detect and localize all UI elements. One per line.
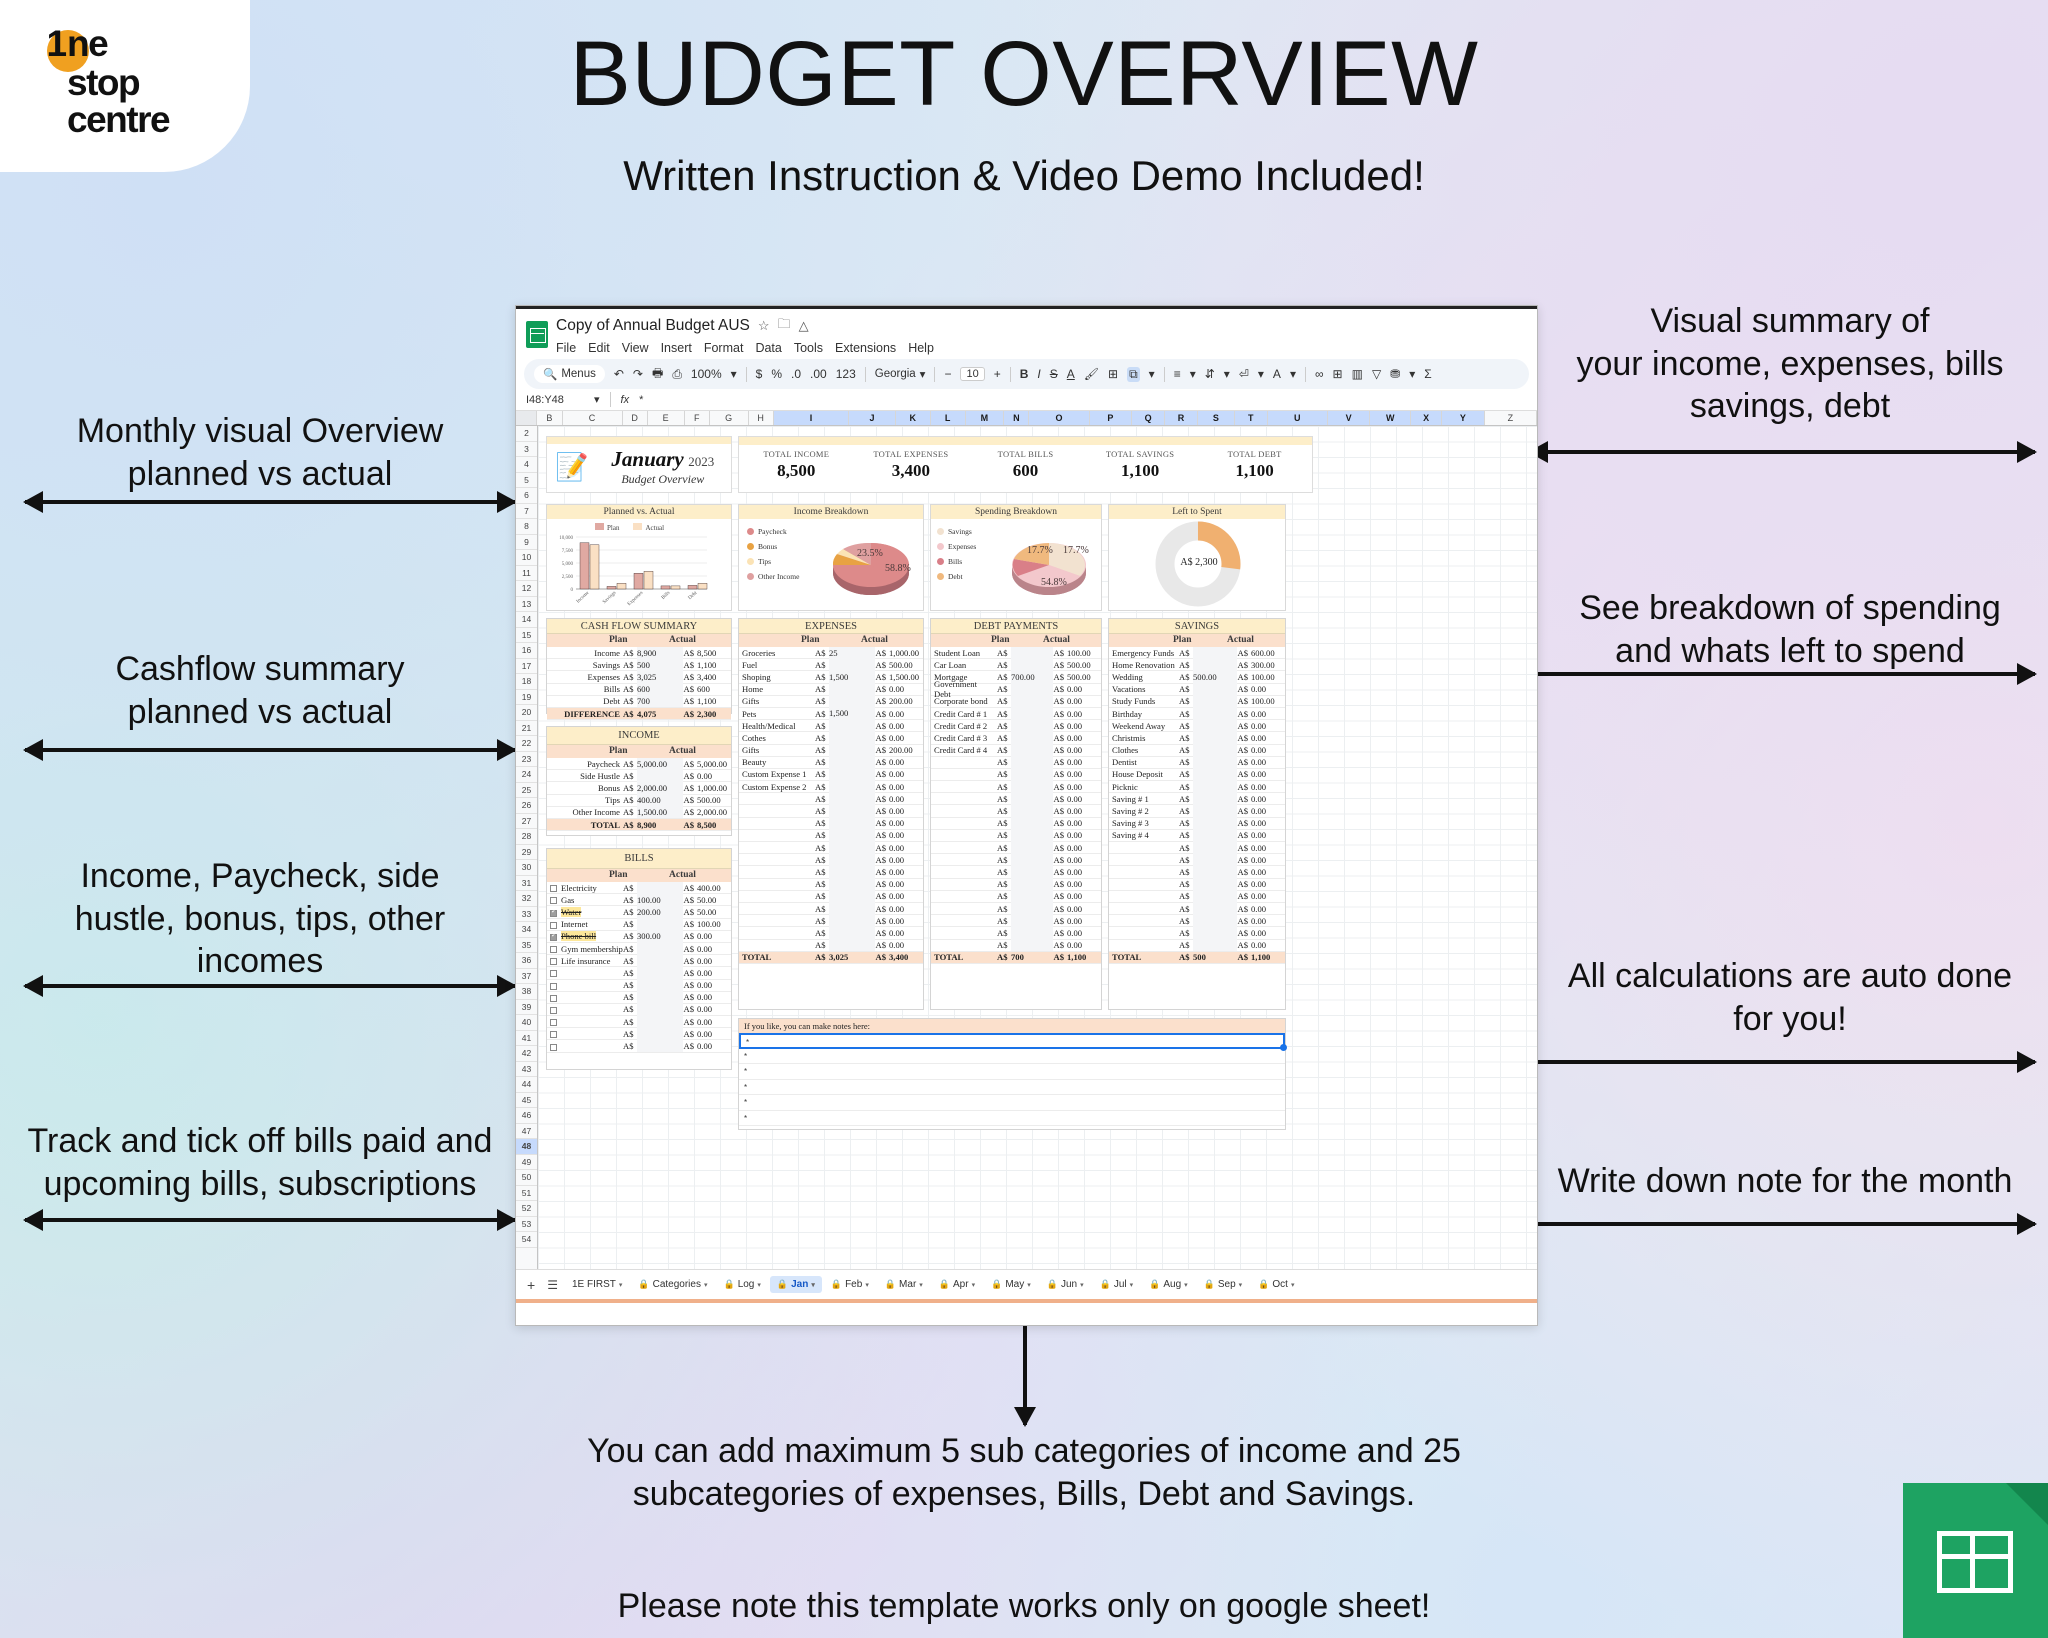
actual-value[interactable]: 0.00 — [889, 806, 923, 816]
chevron-down-icon[interactable]: ▾ — [757, 1281, 761, 1289]
row-header-36[interactable]: 36 — [516, 953, 537, 969]
borders-icon[interactable]: ⊞ — [1108, 367, 1118, 381]
table-row[interactable]: HomeA$A$0.00 — [739, 684, 923, 696]
table-row[interactable]: A$A$0.00 — [547, 1016, 731, 1028]
bill-checkbox[interactable] — [550, 885, 557, 892]
row-label[interactable] — [547, 1041, 623, 1051]
actual-value[interactable]: 0.00 — [889, 843, 923, 853]
actual-value[interactable]: 0.00 — [889, 769, 923, 779]
bill-checkbox[interactable] — [550, 897, 557, 904]
row-header-37[interactable]: 37 — [516, 969, 537, 985]
menu-bar[interactable]: File Edit View Insert Format Data Tools … — [556, 341, 934, 355]
plan-value[interactable] — [829, 939, 875, 951]
increase-decimal-icon[interactable]: .00 — [810, 367, 827, 381]
row-header-27[interactable]: 27 — [516, 814, 537, 830]
actual-value[interactable]: 0.00 — [1067, 867, 1101, 877]
table-row[interactable]: Home RenovationA$A$300.00 — [1109, 659, 1285, 671]
actual-value[interactable]: 0.00 — [889, 940, 923, 950]
table-row[interactable]: Credit Card # 1A$A$0.00 — [931, 708, 1101, 720]
plan-value[interactable] — [1011, 768, 1053, 780]
actual-value[interactable]: 200.00 — [889, 745, 923, 755]
zoom-level[interactable]: 100% — [691, 367, 722, 381]
column-header-W[interactable]: W — [1370, 411, 1411, 425]
bill-checkbox[interactable] — [550, 1044, 557, 1051]
actual-value[interactable]: 0.00 — [889, 855, 923, 865]
table-row[interactable]: A$A$0.00 — [739, 903, 923, 915]
table-row[interactable]: A$A$0.00 — [739, 842, 923, 854]
move-folder-icon[interactable]: 🗀 — [778, 315, 791, 337]
table-row[interactable]: A$A$0.00 — [547, 1028, 731, 1040]
actual-value[interactable]: 500.00 — [697, 795, 731, 805]
row-header-51[interactable]: 51 — [516, 1186, 537, 1202]
table-row[interactable]: A$A$0.00 — [739, 891, 923, 903]
column-header-Q[interactable]: Q — [1132, 411, 1165, 425]
sheet-tab-bar[interactable]: + ☰ 1E FIRST▾🔒Categories▾🔒Log▾🔒Jan▾🔒Feb▾… — [516, 1269, 1537, 1299]
table-row[interactable]: A$A$0.00 — [1109, 854, 1285, 866]
plan-value[interactable]: 700.00 — [1011, 671, 1053, 683]
more-formats-icon[interactable]: 123 — [836, 367, 856, 381]
plan-value[interactable] — [1193, 647, 1237, 659]
table-row[interactable]: Study FundsA$A$100.00 — [1109, 696, 1285, 708]
plan-value[interactable] — [1011, 817, 1053, 829]
actual-value[interactable]: 0.00 — [1067, 928, 1101, 938]
plan-value[interactable] — [1011, 842, 1053, 854]
table-row[interactable]: A$A$0.00 — [1109, 940, 1285, 952]
actual-value[interactable]: 0.00 — [1251, 916, 1285, 926]
table-row[interactable]: Credit Card # 2A$A$0.00 — [931, 720, 1101, 732]
row-header-3[interactable]: 3 — [516, 442, 537, 458]
actual-value[interactable]: 0.00 — [697, 956, 731, 966]
chevron-down-icon[interactable]: ▾ — [1291, 1281, 1295, 1289]
row-header-40[interactable]: 40 — [516, 1015, 537, 1031]
plan-value[interactable]: 500.00 — [1193, 671, 1237, 683]
row-header-11[interactable]: 11 — [516, 566, 537, 582]
actual-value[interactable]: 0.00 — [1067, 830, 1101, 840]
chart-left-to-spent[interactable]: Left to Spent A$ 2,300 — [1108, 504, 1286, 611]
table-row[interactable]: A$A$0.00 — [1109, 915, 1285, 927]
sheet-tab-sep[interactable]: 🔒Sep▾ — [1197, 1276, 1250, 1293]
sheet-tab-apr[interactable]: 🔒Apr▾ — [932, 1276, 982, 1293]
table-row[interactable]: SavingsA$500A$1,100 — [547, 659, 731, 671]
actual-value[interactable]: 100.00 — [697, 919, 731, 929]
table-row[interactable]: PetsA$1,500A$0.00 — [739, 708, 923, 720]
column-header-H[interactable]: H — [749, 411, 774, 425]
table-row[interactable]: A$A$0.00 — [931, 879, 1101, 891]
table-row[interactable]: PaycheckA$5,000.00A$5,000.00 — [547, 758, 731, 770]
actual-value[interactable]: 100.00 — [1251, 696, 1285, 706]
column-header-M[interactable]: M — [966, 411, 1005, 425]
plan-value[interactable] — [1011, 915, 1053, 927]
plan-value[interactable] — [1193, 744, 1237, 756]
column-header-P[interactable]: P — [1090, 411, 1133, 425]
actual-value[interactable]: 0.00 — [1067, 916, 1101, 926]
actual-value[interactable]: 50.00 — [697, 907, 731, 917]
note-line[interactable]: * — [739, 1111, 1285, 1127]
table-row[interactable]: GroceriesA$25A$1,000.00 — [739, 647, 923, 659]
actual-value[interactable]: 0.00 — [697, 980, 731, 990]
chevron-down-icon[interactable]: ▾ — [865, 1281, 869, 1289]
column-header-Z[interactable]: Z — [1485, 411, 1537, 425]
table-row[interactable]: Student LoanA$A$100.00 — [931, 647, 1101, 659]
plan-value[interactable] — [1011, 829, 1053, 841]
table-row[interactable]: GiftsA$A$200.00 — [739, 745, 923, 757]
row-header-6[interactable]: 6 — [516, 488, 537, 504]
bill-checkbox[interactable] — [550, 946, 557, 953]
actual-value[interactable]: 0.00 — [889, 721, 923, 731]
actual-value[interactable]: 1,100 — [697, 696, 731, 706]
actual-value[interactable]: 200.00 — [889, 696, 923, 706]
column-header-O[interactable]: O — [1029, 411, 1089, 425]
table-row[interactable]: Phone billA$300.00A$0.00 — [547, 931, 731, 943]
table-row[interactable]: A$A$0.00 — [739, 818, 923, 830]
table-row[interactable]: BirthdayA$A$0.00 — [1109, 708, 1285, 720]
table-row[interactable]: A$A$0.00 — [931, 940, 1101, 952]
actual-value[interactable]: 0.00 — [697, 968, 731, 978]
sheet-tab-feb[interactable]: 🔒Feb▾ — [824, 1276, 876, 1293]
actual-value[interactable]: 0.00 — [889, 928, 923, 938]
row-header-10[interactable]: 10 — [516, 550, 537, 566]
table-row[interactable]: Saving # 2A$A$0.00 — [1109, 805, 1285, 817]
actual-value[interactable]: 0.00 — [1251, 940, 1285, 950]
plan-value[interactable] — [637, 1016, 683, 1028]
actual-value[interactable]: 0.00 — [889, 916, 923, 926]
actual-value[interactable]: 0.00 — [889, 782, 923, 792]
actual-value[interactable]: 0.00 — [697, 944, 731, 954]
actual-value[interactable]: 0.00 — [1067, 904, 1101, 914]
row-label[interactable]: Phone bill — [547, 931, 623, 941]
table-row[interactable]: Car LoanA$A$500.00 — [931, 659, 1101, 671]
formula-input[interactable]: * — [639, 394, 643, 406]
paint-format-icon[interactable]: ⎙ — [672, 367, 682, 382]
all-sheets-icon[interactable]: ☰ — [542, 1278, 563, 1292]
menu-data[interactable]: Data — [755, 341, 781, 355]
plan-value[interactable] — [829, 744, 875, 756]
plan-value[interactable]: 500 — [637, 659, 683, 671]
row-header-26[interactable]: 26 — [516, 798, 537, 814]
actual-value[interactable]: 0.00 — [889, 684, 923, 694]
currency-icon[interactable]: $ — [756, 367, 763, 381]
row-label[interactable]: Electricity — [547, 883, 623, 893]
actual-value[interactable]: 0.00 — [1251, 709, 1285, 719]
zoom-chevron-down-icon[interactable]: ▾ — [731, 367, 737, 381]
horizontal-align-icon[interactable]: ≡ — [1174, 367, 1181, 381]
sheet-tab-jan[interactable]: 🔒Jan▾ — [770, 1276, 822, 1293]
column-header-G[interactable]: G — [710, 411, 749, 425]
table-row[interactable]: Saving # 4A$A$0.00 — [1109, 830, 1285, 842]
plan-value[interactable] — [637, 1003, 683, 1015]
actual-value[interactable]: 0.00 — [1251, 867, 1285, 877]
actual-value[interactable]: 0.00 — [1067, 818, 1101, 828]
table-row[interactable]: Saving # 3A$A$0.00 — [1109, 818, 1285, 830]
column-header-X[interactable]: X — [1411, 411, 1442, 425]
actual-value[interactable]: 0.00 — [1251, 769, 1285, 779]
table-row[interactable]: CothesA$A$0.00 — [739, 732, 923, 744]
font-size-input[interactable]: 10 — [960, 367, 984, 381]
chart-planned-vs-actual[interactable]: Planned vs. Actual Plan Actual 10,000 7,… — [546, 504, 732, 611]
row-header-42[interactable]: 42 — [516, 1046, 537, 1062]
row-header-49[interactable]: 49 — [516, 1155, 537, 1171]
row-header-14[interactable]: 14 — [516, 612, 537, 628]
table-row[interactable]: Credit Card # 3A$A$0.00 — [931, 732, 1101, 744]
column-header-V[interactable]: V — [1328, 411, 1371, 425]
table-row[interactable]: BeautyA$A$0.00 — [739, 757, 923, 769]
sheet-tab-mar[interactable]: 🔒Mar▾ — [878, 1276, 930, 1293]
star-icon[interactable]: ☆ — [758, 318, 770, 334]
table-row[interactable]: ChristmisA$A$0.00 — [1109, 732, 1285, 744]
plan-value[interactable] — [1193, 659, 1237, 671]
column-header-R[interactable]: R — [1165, 411, 1198, 425]
table-row[interactable]: BillsA$600A$600 — [547, 684, 731, 696]
row-header-31[interactable]: 31 — [516, 876, 537, 892]
actual-value[interactable]: 0.00 — [697, 992, 731, 1002]
chart-spending-breakdown[interactable]: Spending Breakdown Savings Expenses Bill… — [930, 504, 1102, 611]
row-header-12[interactable]: 12 — [516, 581, 537, 597]
name-box[interactable]: I48:Y48 — [526, 394, 584, 406]
filter-views-icon[interactable]: ⛃ — [1390, 367, 1400, 381]
plan-value[interactable] — [1011, 902, 1053, 914]
plan-value[interactable]: 300.00 — [637, 930, 683, 942]
plan-value[interactable] — [637, 1028, 683, 1040]
actual-value[interactable]: 400.00 — [697, 883, 731, 893]
plan-value[interactable] — [637, 770, 683, 782]
table-row[interactable]: A$A$0.00 — [739, 854, 923, 866]
table-row[interactable]: Health/MedicalA$A$0.00 — [739, 720, 923, 732]
row-label[interactable] — [547, 1029, 623, 1039]
actual-value[interactable]: 1,000.00 — [697, 783, 731, 793]
merge-cells-icon[interactable]: ⧉ — [1127, 367, 1140, 382]
plan-value[interactable] — [829, 659, 875, 671]
table-row[interactable]: Custom Expense 2A$A$0.00 — [739, 781, 923, 793]
plan-value[interactable]: 3,025 — [637, 671, 683, 683]
undo-icon[interactable]: ↶ — [614, 367, 624, 381]
redo-icon[interactable]: ↷ — [633, 367, 643, 381]
row-header-21[interactable]: 21 — [516, 721, 537, 737]
plan-value[interactable] — [1011, 927, 1053, 939]
sheet-tab-categories[interactable]: 🔒Categories▾ — [631, 1276, 714, 1293]
increase-font-size-icon[interactable]: + — [994, 367, 1001, 381]
sheet-tab-aug[interactable]: 🔒Aug▾ — [1142, 1276, 1195, 1293]
row-header-44[interactable]: 44 — [516, 1077, 537, 1093]
table-row[interactable]: DentistA$A$0.00 — [1109, 757, 1285, 769]
row-label[interactable]: Water — [547, 907, 623, 917]
actual-value[interactable]: 0.00 — [1067, 843, 1101, 853]
actual-value[interactable]: 600 — [697, 684, 731, 694]
print-icon[interactable]: 🖶 — [652, 364, 663, 385]
table-row[interactable]: ShopingA$1,500A$1,500.00 — [739, 671, 923, 683]
plan-value[interactable] — [1193, 695, 1237, 707]
plan-value[interactable] — [1011, 939, 1053, 951]
halign-chevron-down-icon[interactable]: ▾ — [1190, 367, 1196, 381]
table-row[interactable]: BonusA$2,000.00A$1,000.00 — [547, 782, 731, 794]
actual-value[interactable]: 0.00 — [1251, 818, 1285, 828]
row-header-46[interactable]: 46 — [516, 1108, 537, 1124]
insert-link-icon[interactable]: ∞ — [1315, 367, 1324, 381]
menu-help[interactable]: Help — [908, 341, 934, 355]
actual-value[interactable]: 0.00 — [1067, 769, 1101, 779]
plan-value[interactable] — [829, 793, 875, 805]
row-header-15[interactable]: 15 — [516, 628, 537, 644]
select-all-corner[interactable] — [516, 411, 537, 425]
actual-value[interactable]: 600.00 — [1251, 648, 1285, 658]
row-header-4[interactable]: 4 — [516, 457, 537, 473]
filter-icon[interactable]: ▽ — [1372, 367, 1381, 381]
plan-value[interactable]: 1,500 — [829, 671, 875, 683]
note-line[interactable]: * — [739, 1080, 1285, 1096]
table-row[interactable]: PicknicA$A$0.00 — [1109, 781, 1285, 793]
row-header-32[interactable]: 32 — [516, 891, 537, 907]
column-header-U[interactable]: U — [1268, 411, 1328, 425]
note-line[interactable]: * — [739, 1049, 1285, 1065]
plan-value[interactable] — [637, 967, 683, 979]
table-row[interactable]: A$A$0.00 — [931, 903, 1101, 915]
italic-icon[interactable]: I — [1037, 367, 1040, 381]
menus-search-button[interactable]: 🔍 Menus — [534, 365, 605, 383]
table-row[interactable]: A$A$0.00 — [931, 769, 1101, 781]
menu-view[interactable]: View — [622, 341, 649, 355]
plan-value[interactable] — [637, 882, 683, 894]
vertical-align-icon[interactable]: ⇵ — [1205, 367, 1215, 381]
sheet-tab-may[interactable]: 🔒May▾ — [984, 1276, 1038, 1293]
plan-value[interactable] — [829, 878, 875, 890]
row-header-35[interactable]: 35 — [516, 938, 537, 954]
plan-value[interactable] — [1193, 768, 1237, 780]
actual-value[interactable]: 0.00 — [1067, 891, 1101, 901]
plan-value[interactable] — [1011, 805, 1053, 817]
actual-value[interactable]: 0.00 — [1067, 940, 1101, 950]
sheet-tab-log[interactable]: 🔒Log▾ — [716, 1276, 767, 1293]
plan-value[interactable]: 600 — [637, 683, 683, 695]
plan-value[interactable] — [1011, 878, 1053, 890]
row-header-18[interactable]: 18 — [516, 674, 537, 690]
plan-value[interactable] — [637, 1040, 683, 1052]
menu-format[interactable]: Format — [704, 341, 744, 355]
plan-value[interactable]: 100.00 — [637, 894, 683, 906]
menu-file[interactable]: File — [556, 341, 576, 355]
column-header-N[interactable]: N — [1004, 411, 1029, 425]
actual-value[interactable]: 0.00 — [889, 733, 923, 743]
row-label[interactable]: Life insurance — [547, 956, 623, 966]
chevron-down-icon[interactable]: ▾ — [1239, 1281, 1243, 1289]
table-row[interactable]: Weekend AwayA$A$0.00 — [1109, 720, 1285, 732]
sheet-tab-jun[interactable]: 🔒Jun▾ — [1040, 1276, 1091, 1293]
table-row[interactable]: Side HustleA$A$0.00 — [547, 770, 731, 782]
decrease-decimal-icon[interactable]: .0 — [791, 367, 801, 381]
table-row[interactable]: Life insuranceA$A$0.00 — [547, 955, 731, 967]
actual-value[interactable]: 0.00 — [1251, 745, 1285, 755]
plan-value[interactable] — [1193, 927, 1237, 939]
table-row[interactable]: DebtA$700A$1,100 — [547, 696, 731, 708]
row-header-33[interactable]: 33 — [516, 907, 537, 923]
actual-value[interactable]: 0.00 — [1251, 879, 1285, 889]
row-header-53[interactable]: 53 — [516, 1217, 537, 1233]
row-header-16[interactable]: 16 — [516, 643, 537, 659]
row-label[interactable] — [547, 1004, 623, 1014]
spreadsheet-window[interactable]: Copy of Annual Budget AUS ☆ 🗀 △ File Edi… — [515, 305, 1538, 1326]
actual-value[interactable]: 1,000.00 — [889, 648, 923, 658]
actual-value[interactable]: 3,400 — [697, 672, 731, 682]
actual-value[interactable]: 0.00 — [1251, 757, 1285, 767]
table-row[interactable]: A$A$0.00 — [931, 866, 1101, 878]
chevron-down-icon[interactable]: ▾ — [919, 1281, 923, 1289]
actual-value[interactable]: 5,000.00 — [697, 759, 731, 769]
actual-value[interactable]: 0.00 — [889, 757, 923, 767]
plan-value[interactable] — [1011, 854, 1053, 866]
plan-value[interactable] — [829, 902, 875, 914]
chart-income-breakdown[interactable]: Income Breakdown Paycheck Bonus Tips Oth… — [738, 504, 924, 611]
actual-value[interactable]: 0.00 — [1251, 928, 1285, 938]
formula-bar[interactable]: I48:Y48 ▾ fx * — [516, 389, 1537, 411]
plan-value[interactable] — [1011, 793, 1053, 805]
column-header-J[interactable]: J — [849, 411, 895, 425]
plan-value[interactable] — [1193, 878, 1237, 890]
table-row[interactable]: A$A$0.00 — [547, 992, 731, 1004]
row-header-column[interactable]: 2345678910111213141516171819202122232425… — [516, 426, 538, 1269]
plan-value[interactable] — [829, 842, 875, 854]
table-row[interactable]: A$A$0.00 — [739, 927, 923, 939]
plan-value[interactable] — [1011, 659, 1053, 671]
table-row[interactable]: ExpensesA$3,025A$3,400 — [547, 671, 731, 683]
plan-value[interactable]: 1,500.00 — [637, 806, 683, 818]
actual-value[interactable]: 0.00 — [697, 1041, 731, 1051]
actual-value[interactable]: 500.00 — [889, 660, 923, 670]
plan-value[interactable] — [829, 695, 875, 707]
plan-value[interactable] — [1193, 866, 1237, 878]
sheet-tab-oct[interactable]: 🔒Oct▾ — [1251, 1276, 1301, 1293]
menu-insert[interactable]: Insert — [661, 341, 692, 355]
row-header-25[interactable]: 25 — [516, 783, 537, 799]
actual-value[interactable]: 8,500 — [697, 648, 731, 658]
column-header-C[interactable]: C — [563, 411, 623, 425]
notes-section[interactable]: If you like, you can make notes here: **… — [738, 1018, 1286, 1130]
table-row[interactable]: InternetA$A$100.00 — [547, 919, 731, 931]
plan-value[interactable] — [1193, 915, 1237, 927]
plan-value[interactable] — [1011, 707, 1053, 719]
actual-value[interactable]: 0.00 — [1251, 794, 1285, 804]
actual-value[interactable]: 100.00 — [1251, 672, 1285, 682]
row-header-50[interactable]: 50 — [516, 1170, 537, 1186]
cloud-icon[interactable]: △ — [799, 318, 809, 334]
column-header-D[interactable]: D — [623, 411, 648, 425]
table-row[interactable]: A$A$0.00 — [931, 915, 1101, 927]
table-row[interactable]: TipsA$400.00A$500.00 — [547, 795, 731, 807]
plan-value[interactable] — [1193, 817, 1237, 829]
actual-value[interactable]: 0.00 — [889, 867, 923, 877]
plan-value[interactable] — [1193, 902, 1237, 914]
actual-value[interactable]: 0.00 — [1251, 830, 1285, 840]
column-header-E[interactable]: E — [648, 411, 685, 425]
add-sheet-icon[interactable]: + — [522, 1277, 540, 1293]
actual-value[interactable]: 0.00 — [697, 1029, 731, 1039]
actual-value[interactable]: 0.00 — [889, 891, 923, 901]
menu-extensions[interactable]: Extensions — [835, 341, 896, 355]
table-row[interactable]: A$A$0.00 — [1109, 866, 1285, 878]
table-row[interactable]: Custom Expense 1A$A$0.00 — [739, 769, 923, 781]
plan-value[interactable]: 700 — [637, 695, 683, 707]
column-header-F[interactable]: F — [685, 411, 710, 425]
actual-value[interactable]: 50.00 — [697, 895, 731, 905]
plan-value[interactable] — [637, 979, 683, 991]
actual-value[interactable]: 0.00 — [1067, 684, 1101, 694]
plan-value[interactable] — [829, 732, 875, 744]
actual-value[interactable]: 0.00 — [1067, 879, 1101, 889]
plan-value[interactable] — [829, 854, 875, 866]
table-row[interactable]: A$A$0.00 — [931, 818, 1101, 830]
wrap-chevron-down-icon[interactable]: ▾ — [1258, 367, 1264, 381]
menu-tools[interactable]: Tools — [794, 341, 823, 355]
plan-value[interactable] — [1193, 683, 1237, 695]
table-row[interactable]: GiftsA$A$200.00 — [739, 696, 923, 708]
row-label[interactable]: Internet — [547, 919, 623, 929]
